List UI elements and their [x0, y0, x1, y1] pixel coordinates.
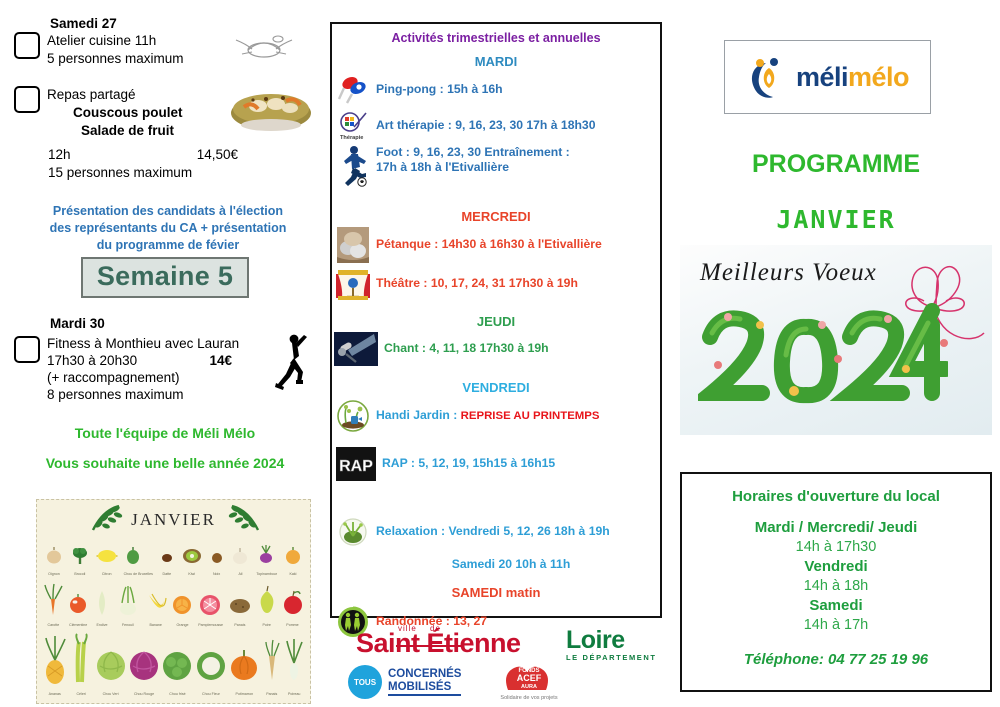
tous-badge: TOUS — [348, 665, 382, 699]
fitness-line3: (+ raccompagnement) — [47, 370, 239, 387]
activity-relaxation: Relaxation : Vendredi 5, 12, 26 18h à 19… — [332, 517, 660, 547]
fitness-line1: Fitness à Monthieu avec Lauran — [47, 336, 239, 353]
activity-chant: Chant : 4, 11, 18 17h30 à 19h — [332, 332, 660, 366]
day-header-mardi: MARDI — [332, 54, 660, 69]
produce-item: Chou Vert — [96, 632, 126, 696]
petanque-icon — [336, 226, 370, 264]
hours-time-3: 14h à 17h — [682, 617, 990, 633]
right-column: mélimélo PROGRAMME JANVIER Meilleurs Voe… — [672, 0, 1000, 707]
acef-logo: FONDS ACEF AURA Solidaire de vos projets — [494, 660, 564, 701]
svg-text:AURA: AURA — [521, 684, 537, 690]
relaxation-text: Relaxation : Vendredi 5, 12, 26 18h à 19… — [376, 524, 610, 539]
handi-jardin-text: Handi Jardin : — [376, 408, 461, 422]
repas-dish-1: Couscous poulet — [73, 104, 183, 122]
produce-item: Datte — [159, 544, 175, 576]
hours-time-2: 14h à 18h — [682, 578, 990, 594]
svg-text:ACEF: ACEF — [517, 673, 542, 683]
svg-text:RAP: RAP — [339, 458, 373, 475]
loire-sub: LE DÉPARTEMENT — [566, 653, 657, 662]
repas-price: 14,50€ — [197, 146, 238, 164]
produce-item: Panais — [263, 632, 281, 696]
activity-foot: Foot : 9, 16, 23, 30 Entraînement : 17h … — [332, 145, 660, 187]
repas-dish-2: Salade de fruit — [81, 122, 183, 140]
meilleurs-voeux-image: Meilleurs Voeux — [680, 245, 992, 435]
svg-text:Thérapie: Thérapie — [340, 135, 363, 141]
activity-ping-pong: Ping-pong : 15h à 16h — [332, 75, 660, 105]
week-badge-wrap: Semaine 5 — [0, 257, 330, 298]
concernes-mobilises-logo: TOUS CONCERNÉS MOBILISÉS — [348, 665, 461, 699]
calendar-title: JANVIER — [131, 510, 216, 530]
calendar-row-1: Oignon Brocoli Citron Chou de Bruxelles … — [37, 542, 310, 576]
produce-item: Noix — [209, 544, 225, 576]
relaxation-icon — [336, 517, 370, 547]
loire-name: Loire — [566, 626, 657, 655]
produce-item: Chou frisé — [162, 632, 192, 696]
produce-item: Endive — [93, 581, 111, 627]
announcement-block: Présentation des candidats à l'élection … — [18, 203, 318, 254]
fitness-line4: 8 personnes maximum — [47, 387, 239, 404]
produce-item: Banane — [145, 581, 167, 627]
fitness-time: 17h30 à 20h30 — [47, 353, 137, 370]
calendar-row-2: Carotte Clémentine Endive Fenouil Banane… — [37, 581, 310, 627]
saturday-heading: Samedi 27 — [50, 16, 117, 31]
week-badge: Semaine 5 — [81, 257, 249, 298]
produce-item: Céleri — [70, 632, 92, 696]
activity-theatre: Théâtre : 10, 17, 24, 31 17h30 à 19h — [332, 266, 660, 302]
wishes-line-1: Toute l'équipe de Méli Mélo — [0, 425, 330, 441]
atelier-cuisine-checkbox[interactable] — [14, 32, 40, 59]
handi-jardin-highlight: REPRISE AU PRINTEMPS — [461, 410, 600, 422]
produce-item: Fenouil — [116, 581, 140, 627]
meli-melo-logo: mélimélo — [724, 40, 931, 114]
relaxation-text-2: Samedi 20 10h à 11h — [332, 557, 660, 571]
produce-item: Topinambour — [256, 542, 277, 576]
leaf-left-icon — [85, 504, 125, 538]
produce-item: Pomme — [282, 581, 304, 627]
day-header-vendredi: VENDREDI — [332, 380, 660, 395]
repas-time: 12h — [48, 146, 71, 164]
chant-icon — [334, 332, 378, 366]
logo-text-melo: mélo — [848, 62, 909, 92]
chant-text: Chant : 4, 11, 18 17h30 à 19h — [384, 341, 549, 356]
produce-item: Chou de Bruxelles — [124, 544, 153, 576]
logo-text-meli: méli — [796, 62, 848, 92]
activity-petanque: Pétanque : 14h30 à 16h30 à l'Etivallière — [332, 226, 660, 264]
saint-etienne-logo: ville de Saint Étienne — [356, 628, 521, 659]
art-therapie-icon: Thérapie — [336, 110, 370, 142]
repas-time-price: 12h 14,50€ — [48, 146, 238, 164]
produce-item: Ananas — [43, 632, 67, 696]
wishes-line-2: Vous souhaite une belle année 2024 — [0, 455, 330, 471]
activity-handi-jardin: Handi Jardin : REPRISE AU PRINTEMPS — [332, 399, 660, 433]
day-header-jeudi: JEUDI — [332, 314, 660, 329]
phone-number: Téléphone: 04 77 25 19 96 — [682, 651, 990, 668]
repas-line1: Repas partagé — [47, 86, 183, 104]
calendar-row-3: Ananas Céleri Chou Vert Chou Rouge Chou … — [37, 632, 310, 696]
produce-item: Panais — [228, 581, 252, 627]
atelier-cuisine-line2: 5 personnes maximum — [47, 50, 184, 68]
produce-item: Clémentine — [68, 581, 88, 627]
produce-item: Poire — [257, 581, 277, 627]
rap-icon: RAP — [336, 447, 376, 481]
footer-logos: ville de Saint Étienne Loire LE DÉPARTEM… — [330, 620, 670, 707]
produce-item: Ail — [230, 544, 250, 576]
activities-title: Activités trimestrielles et annuelles — [332, 31, 660, 45]
hours-title: Horaires d'ouverture du local — [682, 488, 990, 505]
month-title: JANVIER — [672, 205, 1000, 234]
produce-item: Kiwi — [181, 544, 203, 576]
seasonal-calendar-image: JANVIER Oignon Brocoli Citron Chou de Br… — [36, 499, 311, 704]
rap-text: RAP : 5, 12, 19, 15h15 à 16h15 — [382, 456, 555, 471]
fitness-silhouette-icon — [270, 330, 310, 392]
year-2024-foliage — [698, 303, 948, 421]
concernes-line-1: CONCERNÉS — [388, 668, 461, 680]
produce-item: Pamplemousse — [198, 581, 223, 627]
produce-item: Orange — [171, 581, 193, 627]
produce-item: Chou Fleur — [196, 632, 226, 696]
produce-item: Potimarron — [229, 632, 259, 696]
hours-days-3: Samedi — [682, 597, 990, 614]
fitness-item[interactable]: Fitness à Monthieu avec Lauran 17h30 à 2… — [14, 336, 284, 404]
repas-partage-item[interactable]: Repas partagé Couscous poulet Salade de … — [14, 86, 244, 140]
hours-time-1: 14h à 17h30 — [682, 539, 990, 555]
produce-item: Carotte — [43, 581, 63, 627]
foot-text-2: 17h à 18h à l'Etivallière — [376, 160, 509, 174]
announcement-line-2: des représentants du CA + présentation — [18, 220, 318, 237]
activity-rap: RAP RAP : 5, 12, 19, 15h15 à 16h15 — [332, 447, 660, 481]
center-column: Activités trimestrielles et annuelles MA… — [330, 0, 665, 707]
produce-item: Chou Rouge — [129, 632, 159, 696]
announcement-line-1: Présentation des candidats à l'élection — [18, 203, 318, 220]
announcement-line-3: du programme de févier — [18, 237, 318, 254]
handi-jardin-icon — [336, 399, 370, 433]
week-badge-label: Semaine 5 — [97, 261, 233, 291]
saint-etienne-small-2: de — [430, 624, 441, 633]
repas-partage-checkbox[interactable] — [14, 86, 40, 113]
opening-hours-box: Horaires d'ouverture du local Mardi / Me… — [680, 472, 992, 692]
produce-item: Brocoli — [70, 544, 90, 576]
petanque-text: Pétanque : 14h30 à 16h30 à l'Etivallière — [376, 237, 602, 252]
atelier-cuisine-line1: Atelier cuisine 11h — [47, 32, 184, 50]
cooking-utensils-icon — [232, 30, 296, 62]
voeux-script-text: Meilleurs Voeux — [700, 259, 877, 287]
theatre-icon — [336, 266, 370, 302]
produce-item: Kaki — [283, 544, 303, 576]
ping-pong-text: Ping-pong : 15h à 16h — [376, 82, 503, 97]
produce-item: Poireau — [284, 632, 304, 696]
produce-item: Citron — [96, 544, 118, 576]
meli-melo-mark-icon — [746, 53, 792, 101]
acef-tagline: Solidaire de vos projets — [494, 695, 564, 701]
hours-days-2: Vendredi — [682, 558, 990, 575]
couscous-photo — [228, 73, 314, 135]
hours-days-1: Mardi / Mercredi/ Jeudi — [682, 519, 990, 536]
foot-icon — [336, 143, 370, 187]
saint-etienne-small-1: ville — [398, 624, 417, 633]
repas-max: 15 personnes maximum — [48, 164, 192, 182]
produce-item: Oignon — [44, 544, 64, 576]
tuesday-heading: Mardi 30 — [50, 316, 105, 331]
leaf-right-icon — [226, 504, 266, 538]
loire-logo: Loire LE DÉPARTEMENT — [566, 626, 657, 662]
activity-art-therapie: Thérapie Art thérapie : 9, 16, 23, 30 17… — [332, 110, 660, 142]
left-column: Samedi 27 Atelier cuisine 11h 5 personne… — [0, 0, 330, 707]
day-header-mercredi: MERCREDI — [332, 209, 660, 224]
activities-panel: Activités trimestrielles et annuelles MA… — [330, 22, 662, 618]
pingpong-icon — [336, 75, 370, 105]
concernes-line-2: MOBILISÉS — [388, 681, 461, 693]
theatre-text: Théâtre : 10, 17, 24, 31 17h30 à 19h — [376, 276, 578, 291]
day-header-samedi: SAMEDI matin — [332, 585, 660, 600]
fitness-price: 14€ — [209, 353, 232, 370]
programme-title: PROGRAMME — [672, 150, 1000, 179]
foot-text-1: Foot : 9, 16, 23, 30 Entraînement : — [376, 145, 570, 159]
art-therapie-text: Art thérapie : 9, 16, 23, 30 17h à 18h30 — [376, 118, 596, 133]
fitness-checkbox[interactable] — [14, 336, 40, 363]
